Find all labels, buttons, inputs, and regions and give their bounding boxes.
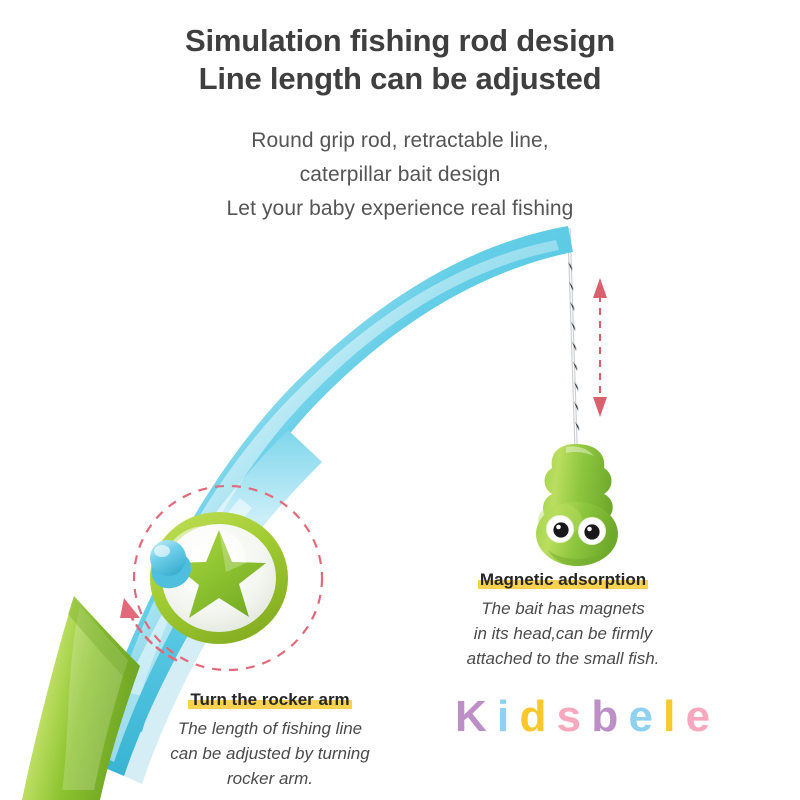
- product-illustration: [0, 0, 800, 800]
- infographic-canvas: Simulation fishing rod design Line lengt…: [0, 0, 800, 800]
- headline-line-2: Line length can be adjusted: [0, 60, 800, 98]
- brand-letter: K: [455, 692, 486, 742]
- callout-magnetic-label: Magnetic adsorption: [478, 570, 648, 590]
- page-headline: Simulation fishing rod design Line lengt…: [0, 22, 800, 98]
- fishing-line: [567, 230, 579, 446]
- subhead-line-3: Let your baby experience real fishing: [0, 192, 800, 226]
- brand-letter: e: [628, 692, 651, 742]
- knob-head: [150, 540, 186, 576]
- page-subhead: Round grip rod, retractable line, caterp…: [0, 124, 800, 226]
- subhead-line-2: caterpillar bait design: [0, 158, 800, 192]
- callout-magnetic-adsorption: Magnetic adsorption The bait has magnets…: [418, 570, 708, 671]
- callout-magnetic-description: The bait has magnets in its head,can be …: [418, 596, 708, 671]
- subhead-line-1: Round grip rod, retractable line,: [0, 124, 800, 158]
- line-length-arrow: [593, 278, 607, 417]
- brand-letter: l: [663, 692, 674, 742]
- brand-letter: b: [591, 692, 617, 742]
- brand-letter: e: [686, 692, 709, 742]
- brand-logo: K i d s b e l e: [455, 692, 705, 742]
- callout-rocker-label: Turn the rocker arm: [188, 690, 351, 710]
- brand-letter: i: [497, 692, 508, 742]
- caterpillar-bait: [536, 444, 618, 566]
- callout-turn-the-rocker-arm: Turn the rocker arm The length of fishin…: [120, 690, 420, 791]
- callout-rocker-description: The length of fishing line can be adjust…: [120, 716, 420, 791]
- headline-line-1: Simulation fishing rod design: [0, 22, 800, 60]
- brand-letter: s: [557, 692, 580, 742]
- brand-letter: d: [519, 692, 545, 742]
